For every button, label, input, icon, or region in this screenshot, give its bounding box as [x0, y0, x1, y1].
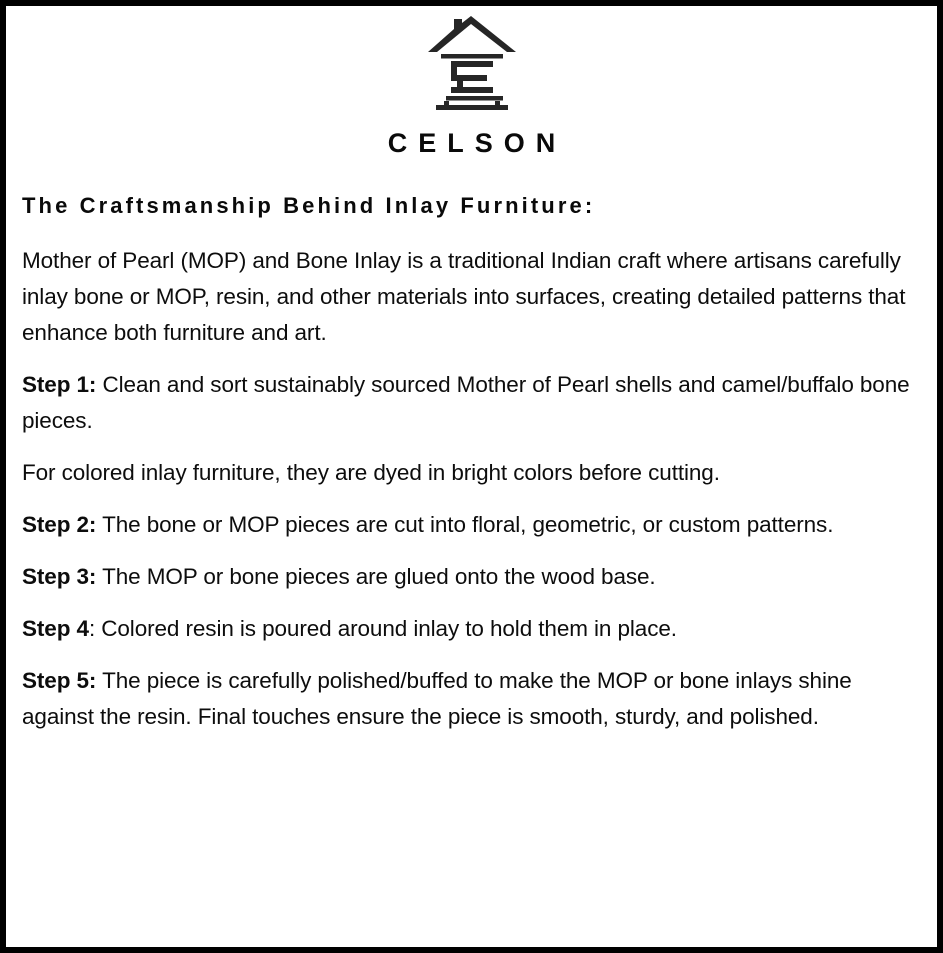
body-copy: Mother of Pearl (MOP) and Bone Inlay is …: [22, 219, 927, 735]
paragraph-step-3: Step 3: The MOP or bone pieces are glued…: [22, 559, 927, 595]
page-title: The Craftsmanship Behind Inlay Furniture…: [22, 193, 927, 219]
paragraph-text: The bone or MOP pieces are cut into flor…: [96, 512, 833, 537]
brand-header: CELSON: [16, 12, 927, 157]
paragraph-step-1: Step 1: Clean and sort sustainably sourc…: [22, 367, 927, 439]
paragraph-text: Mother of Pearl (MOP) and Bone Inlay is …: [22, 248, 905, 345]
paragraph-intro: Mother of Pearl (MOP) and Bone Inlay is …: [22, 243, 927, 351]
paragraph-lead: Step 5:: [22, 668, 96, 693]
brand-name: CELSON: [27, 130, 927, 157]
paragraph-lead: Step 2:: [22, 512, 96, 537]
paragraph-step-2: Step 2: The bone or MOP pieces are cut i…: [22, 507, 927, 543]
paragraph-text: : Colored resin is poured around inlay t…: [89, 616, 677, 641]
paragraph-text: Clean and sort sustainably sourced Mothe…: [22, 372, 910, 433]
paragraph-lead: Step 1:: [22, 372, 96, 397]
paragraph-lead: Step 3:: [22, 564, 96, 589]
paragraph-dyeing-note: For colored inlay furniture, they are dy…: [22, 455, 927, 491]
paragraph-step-4: Step 4: Colored resin is poured around i…: [22, 611, 927, 647]
poster-card: CELSON The Craftsmanship Behind Inlay Fu…: [0, 0, 943, 953]
paragraph-text: The piece is carefully polished/buffed t…: [22, 668, 852, 729]
house-monogram-logo-icon: [424, 16, 520, 116]
paragraph-lead: Step 4: [22, 616, 89, 641]
paragraph-text: For colored inlay furniture, they are dy…: [22, 460, 720, 485]
paragraph-step-5: Step 5: The piece is carefully polished/…: [22, 663, 927, 735]
paragraph-text: The MOP or bone pieces are glued onto th…: [96, 564, 655, 589]
